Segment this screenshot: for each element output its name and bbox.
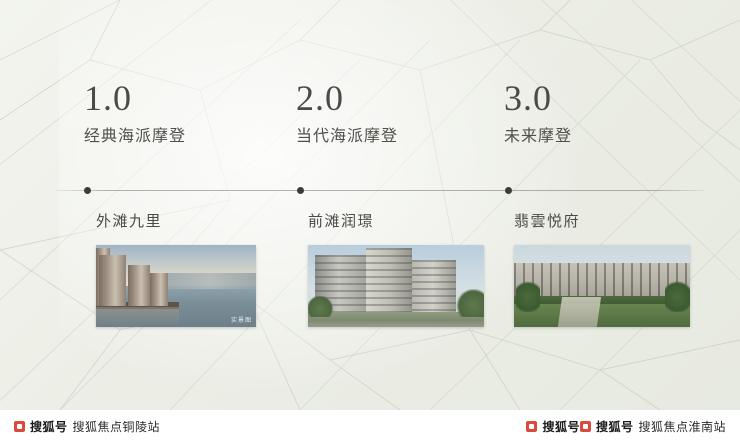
photo3-villa-row xyxy=(514,263,690,299)
watermark-account-right: 搜狐焦点淮南站 xyxy=(638,418,726,435)
project-name-3: 翡雲悦府 xyxy=(514,210,724,231)
project-block-3: 翡雲悦府 xyxy=(514,210,724,327)
generation-label-3: 未来摩登 xyxy=(504,126,714,148)
photo1-tower-1 xyxy=(99,255,126,306)
page-root: 1.0 经典海派摩登 2.0 当代海派摩登 3.0 未来摩登 外滩九里 xyxy=(0,0,740,444)
watermark-brand-overlay: 搜狐号 xyxy=(542,418,580,435)
photo2-tree-right xyxy=(456,289,484,317)
photo3-colonnade xyxy=(514,263,690,299)
presentation-slide: 1.0 经典海派摩登 2.0 当代海派摩登 3.0 未来摩登 外滩九里 xyxy=(0,0,740,410)
generation-column-1: 1.0 经典海派摩登 xyxy=(84,78,294,148)
watermark-brand-right: 搜狐号 xyxy=(596,418,634,435)
photo3-tree-right xyxy=(665,279,690,312)
slide-content: 1.0 经典海派摩登 2.0 当代海派摩登 3.0 未来摩登 外滩九里 xyxy=(0,0,740,410)
photo2-tree-left xyxy=(308,296,334,317)
project-photo-1: 实景图 xyxy=(96,245,256,327)
watermark-brand-left: 搜狐号 xyxy=(30,418,68,435)
timeline-marker-2 xyxy=(297,187,304,194)
sohu-logo-icon-overlay xyxy=(526,421,537,432)
watermark-overlay-right: 搜狐号 xyxy=(526,418,580,435)
photo3-tree-left xyxy=(516,279,541,312)
photo2-building-right xyxy=(410,260,456,314)
project-name-1: 外滩九里 xyxy=(96,210,306,231)
photo1-far-skyline xyxy=(163,273,256,289)
project-name-2: 前滩润璟 xyxy=(308,210,518,231)
generation-column-3: 3.0 未来摩登 xyxy=(504,78,714,148)
photo1-reflection xyxy=(96,307,179,327)
generation-number-3: 3.0 xyxy=(504,78,714,118)
timeline-axis xyxy=(56,190,704,191)
photo2-building-center xyxy=(366,248,412,314)
photo3-hedge xyxy=(514,296,690,304)
timeline-marker-1 xyxy=(84,187,91,194)
sohu-logo-icon-right xyxy=(580,421,591,432)
photo1-caption: 实景图 xyxy=(231,315,252,324)
watermark-bottom-right: 搜狐号 搜狐焦点淮南站 xyxy=(580,418,726,435)
sohu-logo-icon xyxy=(14,421,25,432)
watermark-bottom-left: 搜狐号 搜狐焦点铜陵站 xyxy=(14,418,160,435)
watermark-account-left: 搜狐焦点铜陵站 xyxy=(73,418,161,435)
photo1-tower-3 xyxy=(150,273,168,306)
generation-column-2: 2.0 当代海派摩登 xyxy=(296,78,506,148)
photo2-windows-right xyxy=(410,260,456,314)
generation-label-2: 当代海派摩登 xyxy=(296,126,506,148)
generation-label-1: 经典海派摩登 xyxy=(84,126,294,148)
project-photo-2 xyxy=(308,245,484,327)
photo2-windows-center xyxy=(366,248,412,314)
generation-number-1: 1.0 xyxy=(84,78,294,118)
generation-number-2: 2.0 xyxy=(296,78,506,118)
project-photo-3 xyxy=(514,245,690,327)
timeline-marker-3 xyxy=(505,187,512,194)
photo1-tower-2 xyxy=(128,265,150,306)
photo3-path xyxy=(558,297,601,327)
project-block-1: 外滩九里 实景图 xyxy=(96,210,306,327)
project-block-2: 前滩润璟 xyxy=(308,210,518,327)
